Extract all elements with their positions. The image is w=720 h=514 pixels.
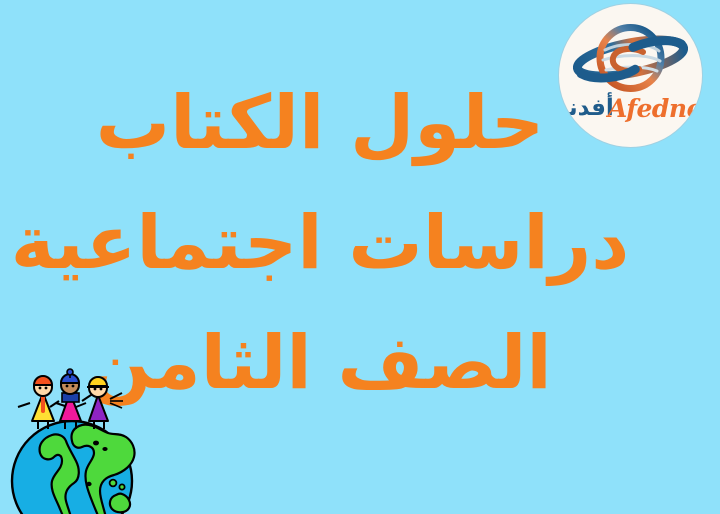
poster-canvas: حلول الكتاب دراسات اجتماعية الصف الثامن (0, 0, 720, 514)
planet-ring-icon (573, 18, 688, 98)
brand-wordmark-arabic: أفدني (559, 95, 614, 121)
title-line-subject: دراسات اجتماعية (0, 206, 640, 280)
globe-with-children-illustration (10, 363, 142, 514)
brand-wordmark-latin: Afedne (608, 94, 702, 123)
brand-logo-badge: Afedneأفدني (559, 4, 702, 147)
poster-title-block: حلول الكتاب دراسات اجتماعية الصف الثامن (0, 86, 640, 400)
brand-wordmark: Afedneأفدني (559, 96, 702, 121)
child-pink (50, 369, 94, 429)
title-line-book-solutions: حلول الكتاب (0, 86, 640, 160)
globe-icon (12, 421, 135, 514)
